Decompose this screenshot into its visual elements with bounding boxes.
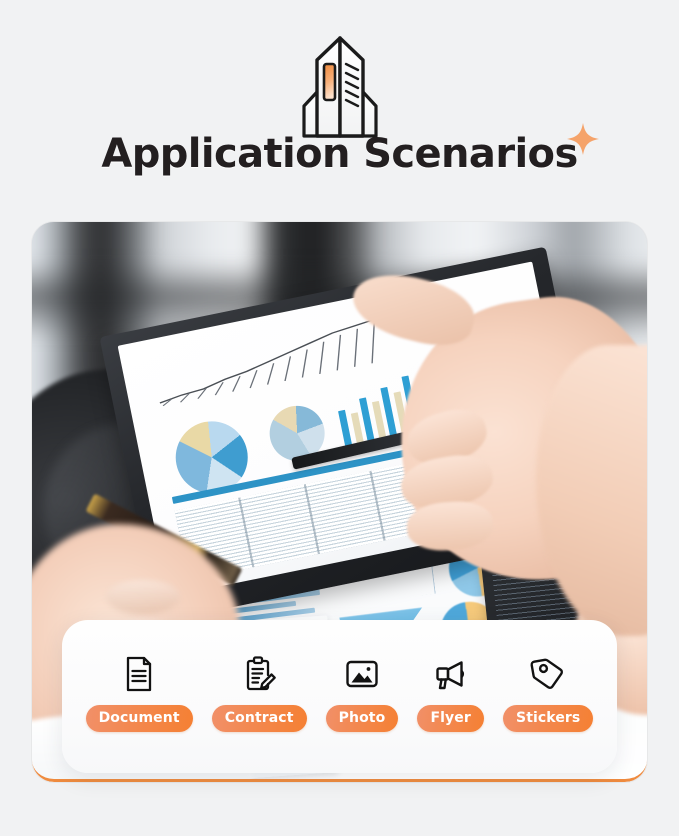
building-icon [280, 30, 400, 138]
scenario-chip-panel: Document Contract [62, 620, 617, 773]
document-icon [119, 654, 159, 694]
scenario-label-flyer: Flyer [417, 705, 483, 732]
scenario-label-stickers: Stickers [503, 705, 593, 732]
scenario-label-contract: Contract [212, 705, 307, 732]
page-title-row: Application Scenarios [0, 128, 679, 180]
clipboard-pencil-icon [239, 654, 279, 694]
knuckle-1 [106, 580, 180, 614]
scenario-label-document: Document [86, 705, 193, 732]
application-scenarios-page: Application Scenarios [0, 0, 679, 836]
header: Application Scenarios [0, 0, 679, 212]
page-title: Application Scenarios [101, 128, 577, 180]
scenario-item-stickers[interactable]: Stickers [503, 654, 593, 732]
image-icon [342, 654, 382, 694]
scenario-item-contract[interactable]: Contract [212, 654, 307, 732]
tag-icon [528, 654, 568, 694]
scenario-item-photo[interactable]: Photo [326, 654, 399, 732]
scenario-label-photo: Photo [326, 705, 399, 732]
megaphone-icon [431, 654, 471, 694]
scenario-item-flyer[interactable]: Flyer [417, 654, 483, 732]
scenario-item-document[interactable]: Document [86, 654, 193, 732]
